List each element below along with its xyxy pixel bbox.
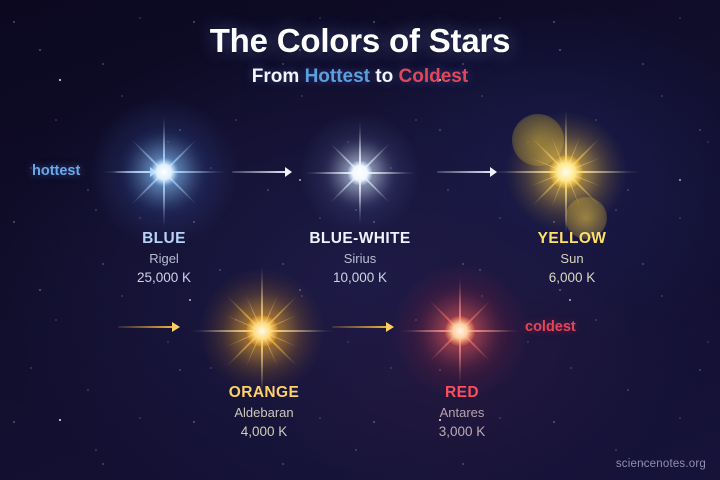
subtitle-middle: to — [370, 66, 399, 87]
star-label-red: RED Antares 3,000 K — [352, 384, 572, 439]
star-core — [445, 316, 475, 346]
arrow-shaft — [118, 326, 174, 328]
star-temperature: 3,000 K — [352, 424, 572, 439]
star-proper-name: Aldebaran — [154, 405, 374, 420]
star-core — [149, 157, 179, 187]
title-block: The Colors of Stars From Hottest to Cold… — [0, 22, 720, 88]
star-core — [549, 155, 583, 189]
watermark: sciencenotes.org — [616, 458, 706, 470]
star-color-name: YELLOW — [462, 230, 682, 248]
star-core — [347, 160, 373, 186]
star-label-orange: ORANGE Aldebaran 4,000 K — [154, 384, 374, 439]
arrow-start-to-orange — [118, 322, 180, 332]
star-glyph-blue — [84, 92, 244, 252]
star-proper-name: Antares — [352, 405, 572, 420]
infographic-poster: The Colors of Stars From Hottest to Cold… — [0, 0, 720, 480]
subtitle-hottest: Hottest — [305, 66, 370, 87]
hottest-label: hottest — [32, 163, 80, 179]
page-title: The Colors of Stars — [0, 22, 720, 60]
subtitle-prefix: From — [252, 66, 305, 87]
star-core — [246, 315, 278, 347]
star-temperature: 4,000 K — [154, 424, 374, 439]
star-color-name: RED — [352, 384, 572, 402]
subtitle-coldest: Coldest — [399, 66, 469, 87]
star-glyph-blue-white — [285, 98, 435, 248]
page-subtitle: From Hottest to Coldest — [0, 66, 720, 88]
star-color-name: ORANGE — [154, 384, 374, 402]
